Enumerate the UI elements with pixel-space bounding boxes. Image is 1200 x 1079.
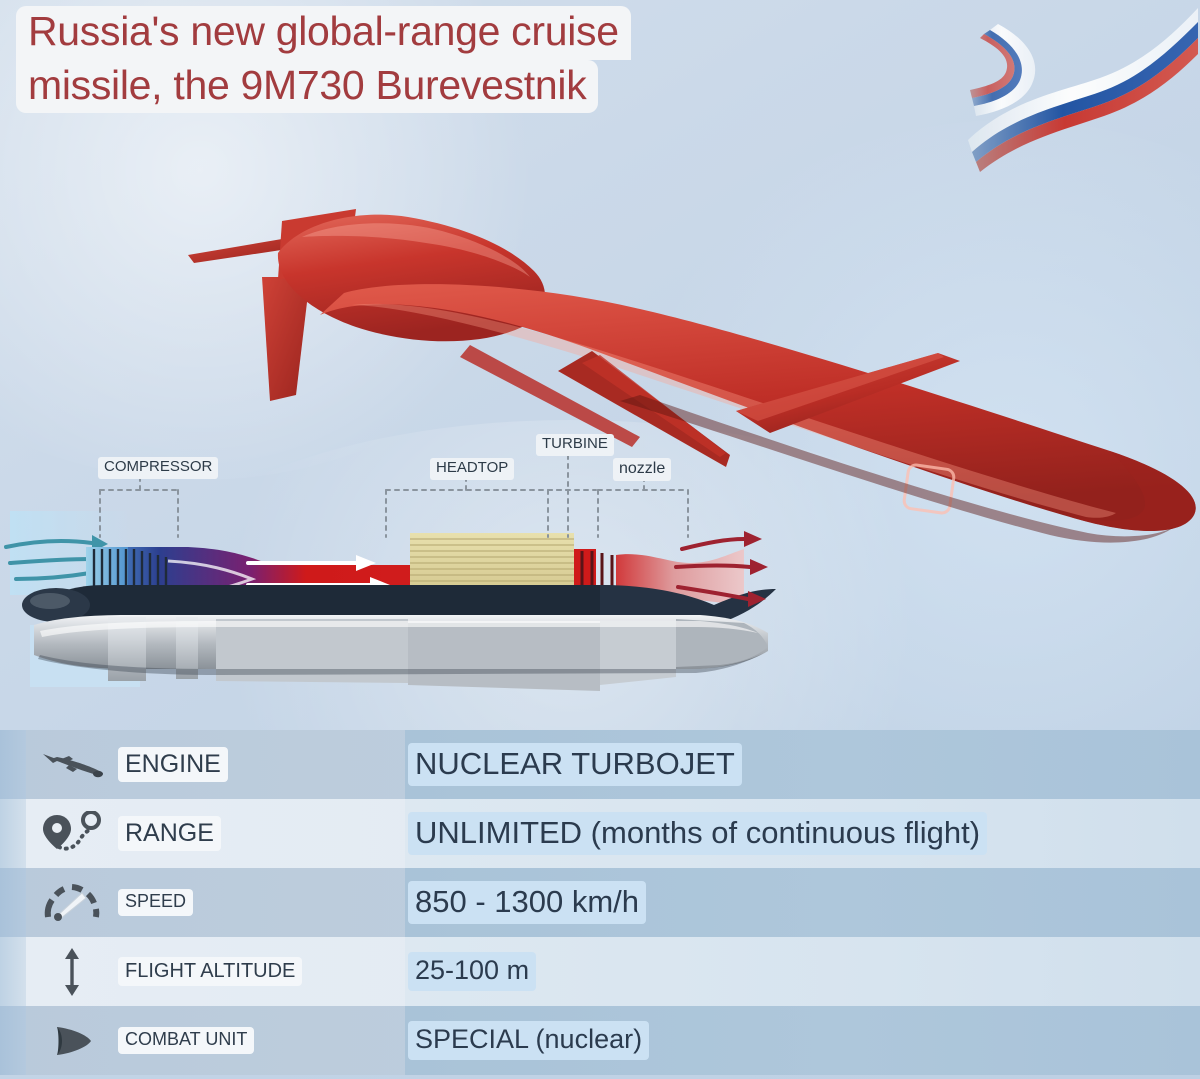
row-label-cell: COMBAT UNIT — [118, 1027, 408, 1053]
spec-label: SPEED — [118, 889, 193, 915]
callout-label-turbine: TURBINE — [536, 434, 614, 456]
callout-leader-lines — [0, 425, 760, 545]
callout-label-compressor: COMPRESSOR — [98, 457, 218, 479]
spec-label: FLIGHT ALTITUDE — [118, 957, 302, 986]
table-row: SPEED 850 - 1300 km/h — [0, 868, 1200, 937]
russian-flag-ribbon — [950, 0, 1200, 200]
row-label-cell: SPEED — [118, 889, 408, 915]
engine-callouts: COMPRESSOR HEADTOP TURBINE nozzle — [0, 425, 760, 545]
row-label-cell: FLIGHT ALTITUDE — [118, 957, 408, 986]
warhead-icon — [26, 1021, 118, 1061]
row-value-cell: 25-100 m — [408, 952, 1200, 990]
route-pin-icon — [26, 811, 118, 857]
spec-label: RANGE — [118, 816, 221, 852]
specifications-table: ENGINE NUCLEAR TURBOJET RANGE UNLIM — [0, 730, 1200, 1075]
row-value-cell: UNLIMITED (months of continuous flight) — [408, 812, 1200, 855]
infographic-poster: Russia's new global-range cruise missile… — [0, 0, 1200, 1079]
spec-value: 25-100 m — [408, 952, 536, 990]
table-row: FLIGHT ALTITUDE 25-100 m — [0, 937, 1200, 1006]
callout-label-headtop: HEADTOP — [430, 458, 514, 480]
spec-value: 850 - 1300 km/h — [408, 881, 646, 924]
callout-label-nozzle: nozzle — [613, 458, 671, 481]
page-title: Russia's new global-range cruise missile… — [16, 6, 631, 113]
row-label-cell: RANGE — [118, 816, 408, 852]
table-row: COMBAT UNIT SPECIAL (nuclear) — [0, 1006, 1200, 1075]
spec-value: NUCLEAR TURBOJET — [408, 743, 742, 786]
row-label-cell: ENGINE — [118, 747, 408, 783]
missile-icon — [26, 748, 118, 782]
row-value-cell: NUCLEAR TURBOJET — [408, 743, 1200, 786]
spec-value: UNLIMITED (months of continuous flight) — [408, 812, 987, 855]
table-row: ENGINE NUCLEAR TURBOJET — [0, 730, 1200, 799]
spec-label: COMBAT UNIT — [118, 1027, 254, 1053]
table-row: RANGE UNLIMITED (months of continuous fl… — [0, 799, 1200, 868]
title-line-1: Russia's new global-range cruise — [16, 6, 631, 60]
row-value-cell: 850 - 1300 km/h — [408, 881, 1200, 924]
altitude-arrow-icon — [26, 946, 118, 998]
row-value-cell: SPECIAL (nuclear) — [408, 1021, 1200, 1059]
title-line-2: missile, the 9M730 Burevestnik — [16, 60, 598, 114]
spec-label: ENGINE — [118, 747, 228, 783]
spec-value: SPECIAL (nuclear) — [408, 1021, 649, 1059]
speedometer-icon — [26, 883, 118, 923]
